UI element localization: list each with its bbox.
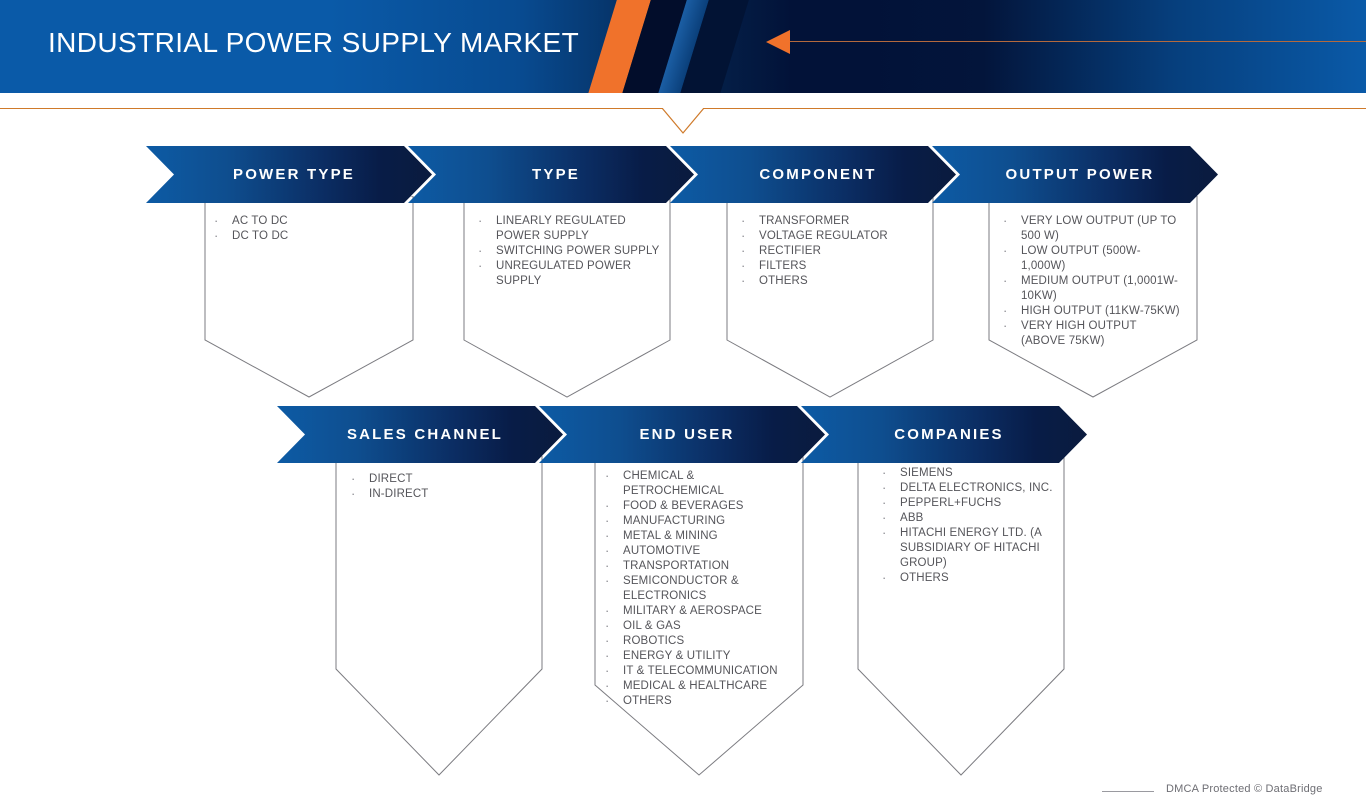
banner-label: SALES CHANNEL <box>347 426 503 443</box>
list-item: FOOD & BEVERAGES <box>597 499 779 514</box>
footer-rule <box>1102 791 1154 792</box>
list-item: OTHERS <box>597 694 779 709</box>
header-arrow-line <box>790 41 1366 42</box>
list-item: PEPPERL+FUCHS <box>874 496 1058 511</box>
list-item: SWITCHING POWER SUPPLY <box>470 244 662 259</box>
divider-line-left <box>0 108 663 109</box>
list-item: VOLTAGE REGULATOR <box>733 229 925 244</box>
banner-sales-channel[interactable]: SALES CHANNEL <box>277 406 563 463</box>
list-item: AC TO DC <box>206 214 406 229</box>
list-item: FILTERS <box>733 259 925 274</box>
list-item: TRANSPORTATION <box>597 559 779 574</box>
list-item: IT & TELECOMMUNICATION <box>597 664 779 679</box>
list-item: VERY LOW OUTPUT (UP TO 500 W) <box>995 214 1181 244</box>
list-sales-channel: DIRECT IN-DIRECT <box>343 472 533 502</box>
list-item: RECTIFIER <box>733 244 925 259</box>
list-item: VERY HIGH OUTPUT (ABOVE 75KW) <box>995 319 1181 349</box>
banner-end-user[interactable]: END USER <box>539 406 825 463</box>
list-item: HITACHI ENERGY LTD. (A SUBSIDIARY OF HIT… <box>874 526 1058 571</box>
divider-notch-icon <box>661 108 705 134</box>
list-item: ABB <box>874 511 1058 526</box>
segment-box-sales-channel <box>335 456 543 776</box>
banner-label: TYPE <box>532 166 580 183</box>
banner-component[interactable]: COMPONENT <box>670 146 956 203</box>
page-header: INDUSTRIAL POWER SUPPLY MARKET <box>0 0 1366 93</box>
list-item: LINEARLY REGULATED POWER SUPPLY <box>470 214 662 244</box>
banner-label: POWER TYPE <box>233 166 355 183</box>
list-item: OIL & GAS <box>597 619 779 634</box>
banner-label: END USER <box>639 426 734 443</box>
list-item: ROBOTICS <box>597 634 779 649</box>
footer-copyright: DMCA Protected © DataBridge <box>1166 783 1323 795</box>
list-item: LOW OUTPUT (500W-1,000W) <box>995 244 1181 274</box>
list-item: HIGH OUTPUT (11KW-75KW) <box>995 304 1181 319</box>
list-item: MEDICAL & HEALTHCARE <box>597 679 779 694</box>
list-item: IN-DIRECT <box>343 487 533 502</box>
list-item: SIEMENS <box>874 466 1058 481</box>
left-arrow-icon <box>766 30 790 54</box>
list-output-power: VERY LOW OUTPUT (UP TO 500 W) LOW OUTPUT… <box>995 214 1181 349</box>
list-type: LINEARLY REGULATED POWER SUPPLY SWITCHIN… <box>470 214 662 289</box>
list-component: TRANSFORMER VOLTAGE REGULATOR RECTIFIER … <box>733 214 925 289</box>
list-item: CHEMICAL & PETROCHEMICAL <box>597 469 779 499</box>
banner-label: COMPANIES <box>894 426 1004 443</box>
header-divider <box>0 108 1366 136</box>
banner-label: OUTPUT POWER <box>1006 166 1155 183</box>
list-companies: SIEMENS DELTA ELECTRONICS, INC. PEPPERL+… <box>874 466 1058 586</box>
list-item: SEMICONDUCTOR & ELECTRONICS <box>597 574 779 604</box>
divider-line-right <box>703 108 1366 109</box>
list-item: MILITARY & AEROSPACE <box>597 604 779 619</box>
banner-companies[interactable]: COMPANIES <box>801 406 1087 463</box>
list-item: DC TO DC <box>206 229 406 244</box>
banner-power-type[interactable]: POWER TYPE <box>146 146 432 203</box>
list-item: MEDIUM OUTPUT (1,0001W-10KW) <box>995 274 1181 304</box>
list-item: DELTA ELECTRONICS, INC. <box>874 481 1058 496</box>
list-item: TRANSFORMER <box>733 214 925 229</box>
list-item: OTHERS <box>733 274 925 289</box>
banner-label: COMPONENT <box>759 166 876 183</box>
banner-type[interactable]: TYPE <box>408 146 694 203</box>
list-item: UNREGULATED POWER SUPPLY <box>470 259 662 289</box>
list-item: DIRECT <box>343 472 533 487</box>
banner-output-power[interactable]: OUTPUT POWER <box>932 146 1218 203</box>
list-end-user: CHEMICAL & PETROCHEMICAL FOOD & BEVERAGE… <box>597 469 779 709</box>
list-item: METAL & MINING <box>597 529 779 544</box>
list-item: AUTOMOTIVE <box>597 544 779 559</box>
page-title: INDUSTRIAL POWER SUPPLY MARKET <box>48 27 579 59</box>
list-power-type: AC TO DC DC TO DC <box>206 214 406 244</box>
list-item: MANUFACTURING <box>597 514 779 529</box>
list-item: ENERGY & UTILITY <box>597 649 779 664</box>
list-item: OTHERS <box>874 571 1058 586</box>
